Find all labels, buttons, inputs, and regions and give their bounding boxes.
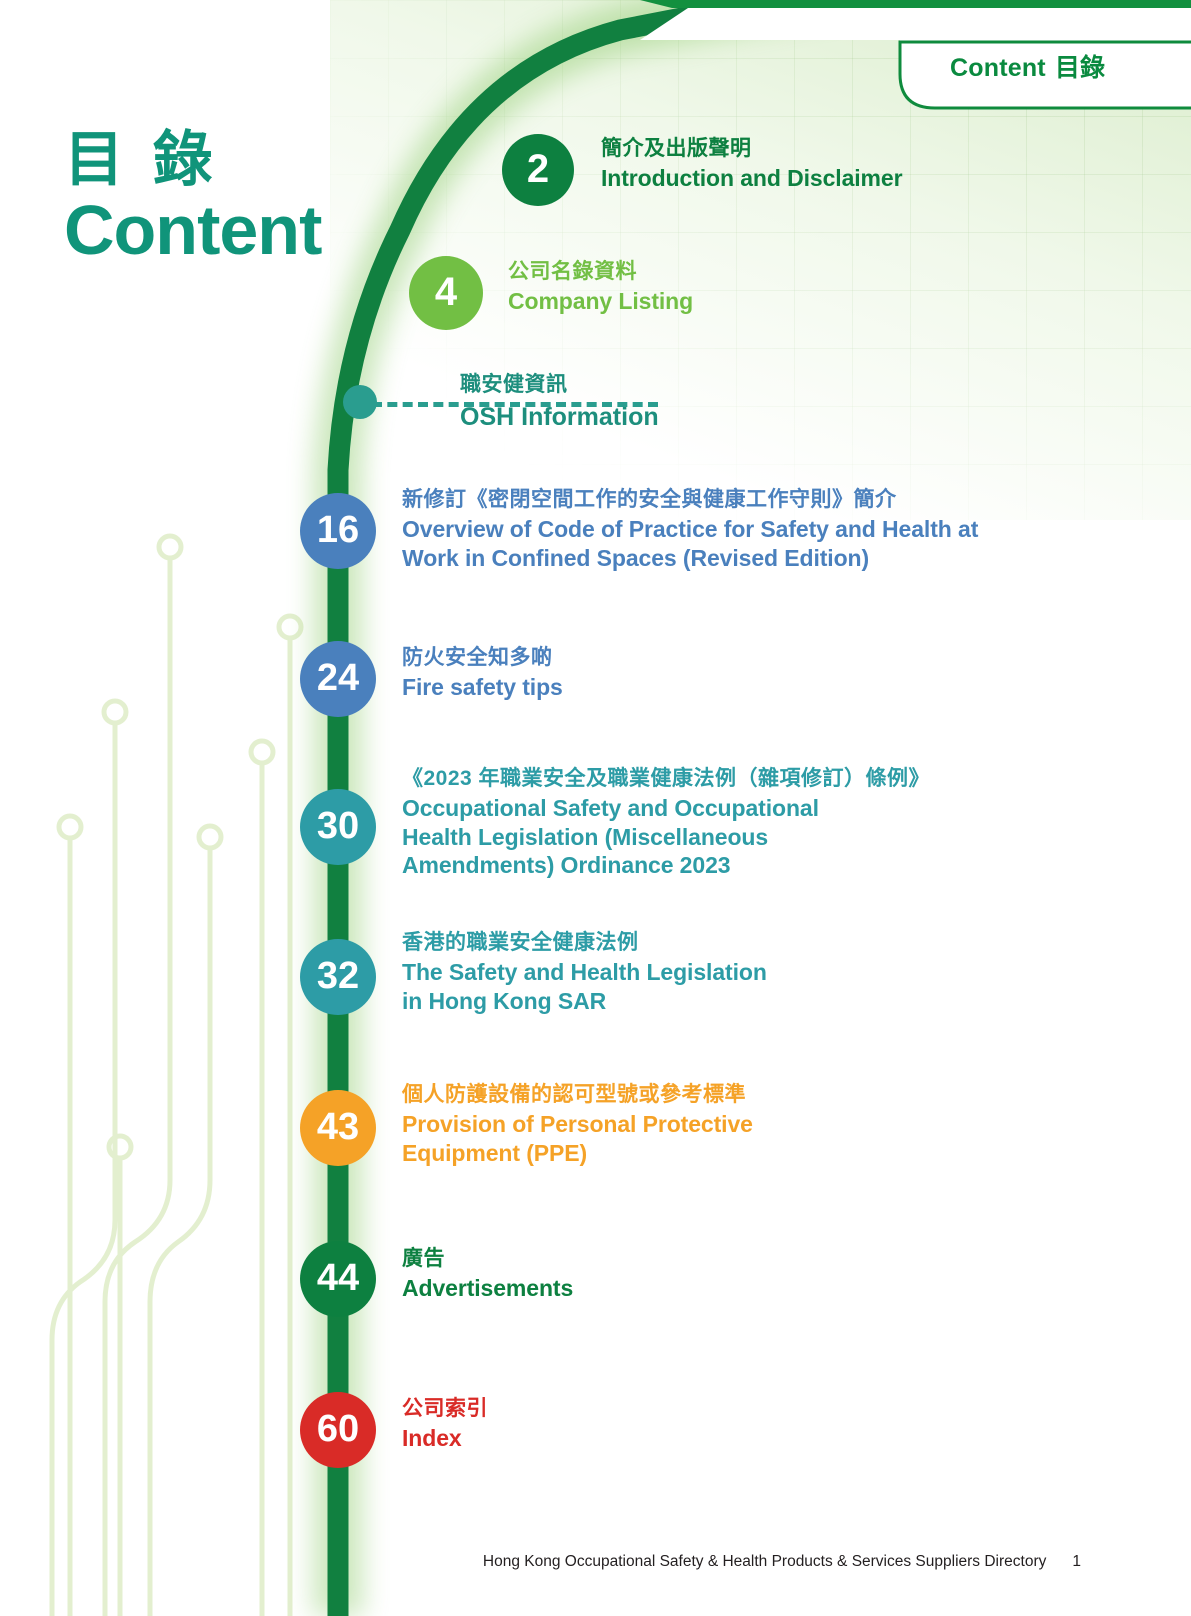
toc-entry-title-en: The Safety and Health Legislationin Hong…: [402, 958, 767, 1015]
content-page: Content目錄 目 錄 Content 職安健資訊 OSH Informat…: [0, 0, 1191, 1616]
page-footer: Hong Kong Occupational Safety & Health P…: [0, 1553, 1191, 1571]
footer-page-number: 1: [1072, 1553, 1081, 1571]
toc-node-number: 30: [317, 807, 359, 845]
header-tab-label: Content目錄: [950, 48, 1105, 84]
toc-entry-title-en-line: Amendments) Ordinance 2023: [402, 851, 930, 880]
toc-entry-title-cn: 《2023 年職業安全及職業健康法例（雜項修訂）條例》: [402, 766, 930, 792]
toc-entry-title-en: Overview of Code of Practice for Safety …: [402, 515, 978, 572]
toc-entry-title-en-line: Equipment (PPE): [402, 1139, 753, 1168]
toc-entry-32[interactable]: 香港的職業安全健康法例The Safety and Health Legisla…: [402, 930, 767, 1015]
toc-entry-title-en: Advertisements: [402, 1274, 573, 1303]
toc-entry-title-en-line: Health Legislation (Miscellaneous: [402, 823, 930, 852]
toc-node-number: 24: [317, 659, 359, 697]
osh-section: 職安健資訊 OSH Information: [460, 368, 659, 432]
toc-node-number: 60: [317, 1410, 359, 1448]
toc-entry-title-en-line: Occupational Safety and Occupational: [402, 794, 930, 823]
toc-entry-16[interactable]: 新修訂《密閉空間工作的安全與健康工作守則》簡介Overview of Code …: [402, 487, 978, 572]
toc-entry-title-en: Occupational Safety and OccupationalHeal…: [402, 794, 930, 880]
toc-entry-title-cn: 防火安全知多啲: [402, 645, 563, 671]
toc-entry-title-en-line: Overview of Code of Practice for Safety …: [402, 515, 978, 544]
toc-node-44[interactable]: 44: [300, 1241, 376, 1317]
toc-entry-title-en-line: Index: [402, 1424, 488, 1453]
toc-node-number: 43: [317, 1108, 359, 1146]
toc-entry-title-cn: 香港的職業安全健康法例: [402, 930, 767, 956]
toc-node-32[interactable]: 32: [300, 939, 376, 1015]
toc-entry-title-en-line: The Safety and Health Legislation: [402, 958, 767, 987]
toc-entry-60[interactable]: 公司索引Index: [402, 1396, 488, 1453]
osh-path-dot: [343, 385, 377, 419]
toc-entry-title-cn: 個人防護設備的認可型號或參考標準: [402, 1082, 753, 1108]
toc-node-number: 2: [527, 149, 549, 189]
toc-entry-title-cn: 簡介及出版聲明: [601, 136, 902, 162]
toc-entry-title-cn: 公司名錄資料: [508, 259, 693, 285]
toc-node-4[interactable]: 4: [409, 256, 483, 330]
toc-entry-title-cn: 公司索引: [402, 1396, 488, 1422]
toc-node-24[interactable]: 24: [300, 641, 376, 717]
header-tab-label-cn: 目錄: [1055, 54, 1105, 82]
footer-text: Hong Kong Occupational Safety & Health P…: [483, 1553, 1046, 1570]
toc-entry-title-en-line: Company Listing: [508, 287, 693, 316]
toc-entry-24[interactable]: 防火安全知多啲Fire safety tips: [402, 645, 563, 702]
toc-entry-title-en-line: in Hong Kong SAR: [402, 987, 767, 1016]
page-title: 目 錄 Content: [64, 128, 321, 265]
toc-node-number: 44: [317, 1259, 359, 1297]
page-title-en: Content: [64, 195, 321, 265]
toc-entry-30[interactable]: 《2023 年職業安全及職業健康法例（雜項修訂）條例》Occupational …: [402, 766, 930, 880]
toc-entry-4[interactable]: 公司名錄資料Company Listing: [508, 259, 693, 316]
toc-entry-2[interactable]: 簡介及出版聲明Introduction and Disclaimer: [601, 136, 902, 193]
toc-entry-title-en-line: Work in Confined Spaces (Revised Edition…: [402, 544, 978, 573]
toc-node-43[interactable]: 43: [300, 1090, 376, 1166]
toc-entry-title-en-line: Advertisements: [402, 1274, 573, 1303]
page-title-cn: 目 錄: [64, 128, 321, 191]
toc-node-number: 16: [317, 511, 359, 549]
toc-node-30[interactable]: 30: [300, 789, 376, 865]
toc-entry-title-en: Introduction and Disclaimer: [601, 164, 902, 193]
toc-entry-title-en: Index: [402, 1424, 488, 1453]
toc-node-16[interactable]: 16: [300, 493, 376, 569]
toc-node-60[interactable]: 60: [300, 1392, 376, 1468]
toc-entry-title-cn: 新修訂《密閉空間工作的安全與健康工作守則》簡介: [402, 487, 978, 513]
toc-entry-title-en-line: Introduction and Disclaimer: [601, 164, 902, 193]
toc-entry-title-cn: 廣告: [402, 1246, 573, 1272]
toc-entry-title-en: Fire safety tips: [402, 673, 563, 702]
osh-label-en: OSH Information: [460, 403, 659, 432]
toc-entry-title-en-line: Provision of Personal Protective: [402, 1110, 753, 1139]
toc-node-number: 4: [435, 272, 457, 312]
osh-label-cn: 職安健資訊: [460, 368, 659, 398]
header-tab-label-en: Content: [950, 54, 1046, 82]
toc-node-number: 32: [317, 957, 359, 995]
toc-entry-title-en: Provision of Personal ProtectiveEquipmen…: [402, 1110, 753, 1167]
toc-entry-44[interactable]: 廣告Advertisements: [402, 1246, 573, 1303]
toc-entry-43[interactable]: 個人防護設備的認可型號或參考標準Provision of Personal Pr…: [402, 1082, 753, 1167]
toc-entry-title-en-line: Fire safety tips: [402, 673, 563, 702]
toc-entry-title-en: Company Listing: [508, 287, 693, 316]
toc-node-2[interactable]: 2: [502, 134, 574, 206]
